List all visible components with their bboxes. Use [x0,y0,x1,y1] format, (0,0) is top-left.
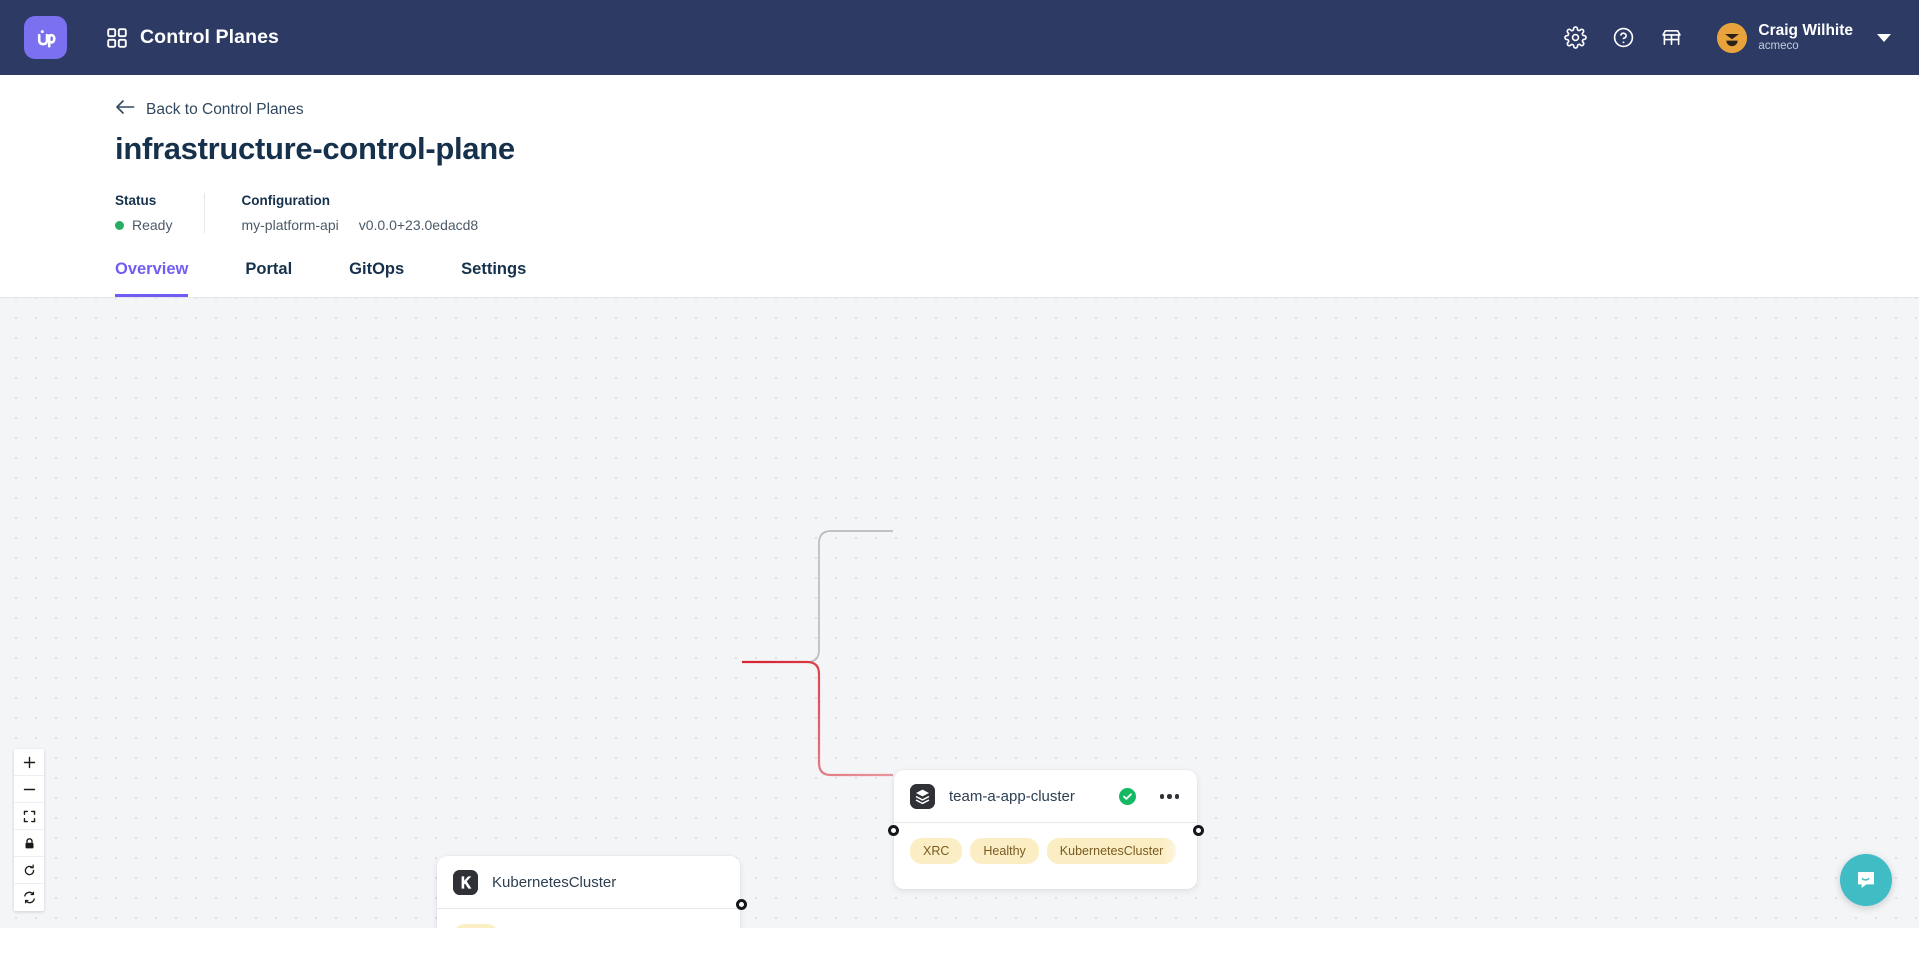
page-header: Back to Control Planes infrastructure-co… [0,75,1919,233]
node-team-a-app-cluster[interactable]: team-a-app-cluster XRC Healthy Kubernete… [894,770,1197,889]
tabs-divider [0,297,1919,298]
nav-control-planes[interactable]: Control Planes [107,26,279,49]
node-tag: KubernetesCluster [1047,838,1177,864]
arrow-left-icon [115,99,135,120]
status-text: Ready [132,217,172,233]
zoom-in-button[interactable] [14,749,44,776]
node-title: team-a-app-cluster [949,788,1105,805]
page-title: infrastructure-control-plane [115,131,1919,167]
meta-row: Status Ready Configuration my-platform-a… [115,193,1919,233]
settings-gear-icon[interactable] [1551,14,1599,62]
back-to-control-planes-link[interactable]: Back to Control Planes [115,99,304,120]
sync-button[interactable] [14,884,44,911]
configuration-block: Configuration my-platform-api v0.0.0+23.… [204,193,510,233]
status-dot-icon [115,221,124,230]
user-org: acmeco [1758,40,1853,53]
zoom-controls [14,749,44,911]
status-label: Status [115,193,172,208]
layers-icon [910,784,935,809]
graph-canvas[interactable]: KubernetesCluster API team-a-app-cluster [0,298,1919,928]
node-tag: XRC [910,838,962,864]
tab-settings[interactable]: Settings [461,260,526,297]
handle-team-a-input[interactable] [888,825,899,836]
node-menu-button[interactable] [1150,790,1182,803]
navbar-right-group: Craig Wilhite acmeco [1551,14,1891,62]
tab-gitops[interactable]: GitOps [349,260,404,297]
node-kubernetes-cluster[interactable]: KubernetesCluster API [437,856,740,928]
tab-overview[interactable]: Overview [115,260,188,297]
status-value: Ready [115,217,172,233]
avatar [1717,23,1747,53]
marketplace-icon[interactable] [1647,14,1695,62]
node-header: KubernetesCluster [437,856,740,908]
configuration-value: my-platform-api v0.0.0+23.0edacd8 [241,217,478,233]
chevron-down-icon [1877,34,1891,42]
node-header: team-a-app-cluster [894,770,1197,822]
nav-title: Control Planes [140,26,279,49]
grid-icon [107,28,127,48]
configuration-name[interactable]: my-platform-api [241,217,338,233]
kubernetes-k-icon [453,870,478,895]
configuration-label: Configuration [241,193,478,208]
configuration-version: v0.0.0+23.0edacd8 [359,217,479,233]
upbound-logo[interactable] [24,16,67,59]
status-block: Status Ready [115,193,204,233]
node-tag: Healthy [970,838,1038,864]
tab-bar: Overview Portal GitOps Settings [115,260,1919,297]
edge-to-team-b [742,662,893,775]
node-tags: XRC Healthy KubernetesCluster [894,823,1197,882]
handle-team-a-output[interactable] [1193,825,1204,836]
chat-support-button[interactable] [1840,854,1892,906]
node-tags: API [437,909,740,928]
user-name: Craig Wilhite [1758,22,1853,40]
handle-kubernetes-cluster-output[interactable] [736,899,747,910]
node-tag: API [453,924,499,928]
top-navbar: Control Planes [0,0,1919,75]
reset-button[interactable] [14,857,44,884]
tab-portal[interactable]: Portal [245,260,292,297]
fit-view-button[interactable] [14,803,44,830]
help-circle-icon[interactable] [1599,14,1647,62]
zoom-out-button[interactable] [14,776,44,803]
user-menu[interactable]: Craig Wilhite acmeco [1717,22,1891,53]
back-link-label: Back to Control Planes [146,101,304,119]
node-title: KubernetesCluster [492,874,724,891]
edge-to-team-a [742,531,893,662]
check-circle-icon [1119,788,1136,805]
lock-button[interactable] [14,830,44,857]
